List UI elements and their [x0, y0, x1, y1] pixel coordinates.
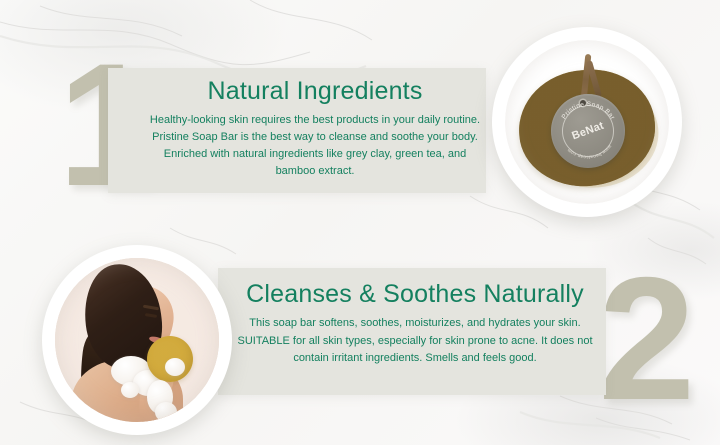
section-2-text-block: Cleanses & Soothes Naturally This soap b… [215, 272, 615, 368]
svg-text:www.benatsoap.com: www.benatsoap.com [566, 144, 612, 160]
promo-slide: 1 Natural Ingredients Healthy-looking sk… [0, 0, 720, 445]
foam-icon [121, 382, 139, 398]
soap-scene: Pristine Soap Bar www.benatsoap.com BeNa… [505, 40, 669, 204]
shower-scene [55, 258, 219, 422]
section-1-heading: Natural Ingredients [120, 68, 510, 106]
soap-bar-product-photo: Pristine Soap Bar www.benatsoap.com BeNa… [492, 27, 682, 217]
section-2-heading: Cleanses & Soothes Naturally [215, 272, 615, 309]
woman-showering-photo [42, 245, 232, 435]
section-2-body: This soap bar softens, soothes, moisturi… [215, 315, 615, 368]
tag-website: www.benatsoap.com [566, 144, 612, 160]
section-1-body: Healthy-looking skin requires the best p… [120, 112, 510, 180]
soap-photo-inner: Pristine Soap Bar www.benatsoap.com BeNa… [505, 40, 669, 204]
soap-product-tag: Pristine Soap Bar www.benatsoap.com BeNa… [551, 94, 625, 168]
shower-photo-inner [55, 258, 219, 422]
foam-icon [165, 358, 185, 376]
foam-icon [155, 402, 177, 422]
section-1-text-block: Natural Ingredients Healthy-looking skin… [120, 68, 510, 180]
